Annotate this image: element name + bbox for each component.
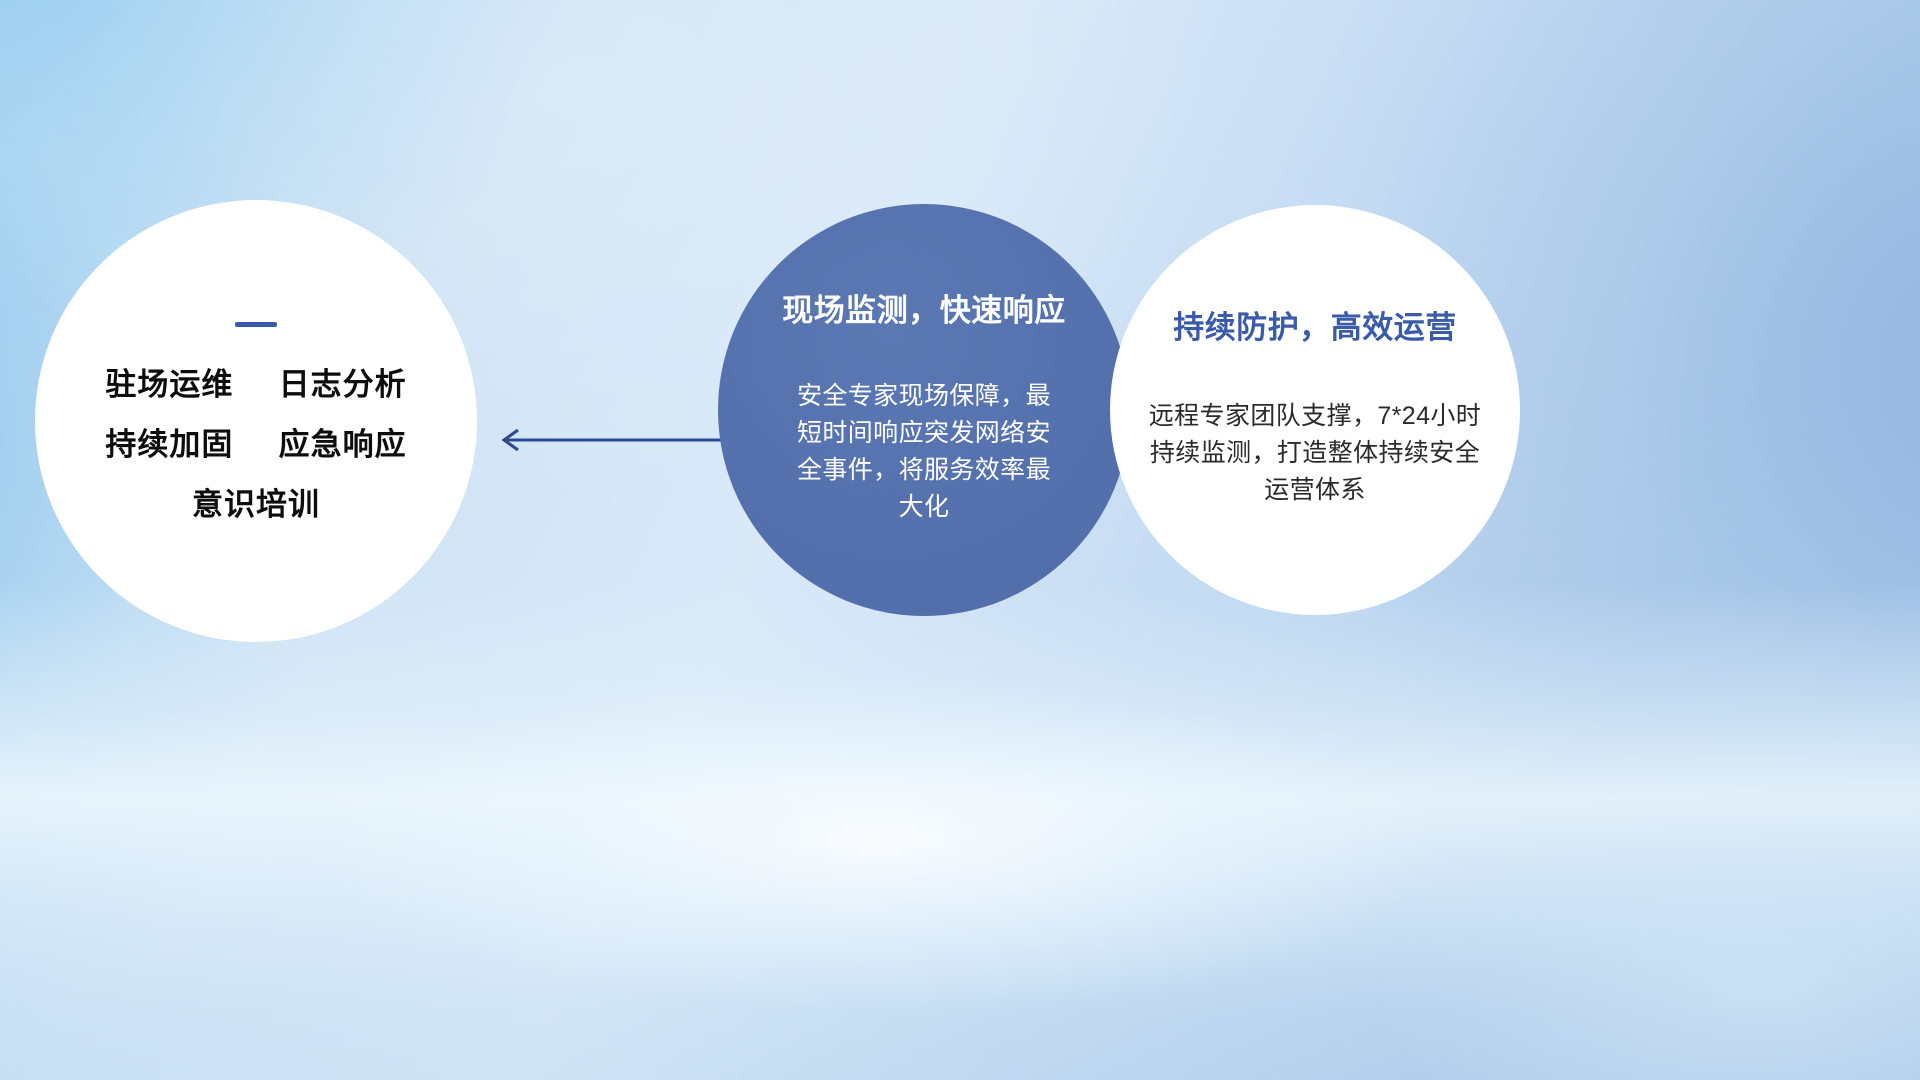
slide-canvas: 驻场运维 日志分析 持续加固 应急响应 意识培训 现场监测，快速响应 安全专家现… — [0, 0, 1920, 1080]
right-circle-body: 远程专家团队支撑，7*24小时持续监测，打造整体持续安全运营体系 — [1142, 398, 1488, 509]
capability-label-yingjixiangying: 应急响应 — [279, 427, 407, 462]
capability-label-zhuchangyunwei: 驻场运维 — [105, 367, 233, 402]
capability-label-rizhifenxi: 日志分析 — [279, 367, 407, 402]
middle-onsite-monitoring-circle[interactable]: 现场监测，快速响应 安全专家现场保障，最短时间响应突发网络安全事件，将服务效率最… — [718, 204, 1130, 616]
capability-row-3: 意识培训 — [192, 489, 320, 520]
left-capability-circle[interactable]: 驻场运维 日志分析 持续加固 应急响应 意识培训 — [35, 200, 477, 642]
divider-dash — [235, 322, 277, 327]
right-circle-title: 持续防护，高效运营 — [1173, 311, 1457, 345]
right-continuous-protection-circle[interactable]: 持续防护，高效运营 远程专家团队支撑，7*24小时持续监测，打造整体持续安全运营… — [1110, 205, 1520, 615]
capability-label-chixujiagu: 持续加固 — [105, 427, 233, 462]
middle-circle-body: 安全专家现场保障，最短时间响应突发网络安全事件，将服务效率最大化 — [790, 378, 1058, 526]
middle-circle-title: 现场监测，快速响应 — [782, 294, 1066, 328]
capability-row-2: 持续加固 应急响应 — [105, 429, 406, 460]
capability-row-1: 驻场运维 日志分析 — [105, 369, 406, 400]
capability-label-yishipeixun: 意识培训 — [192, 487, 320, 522]
